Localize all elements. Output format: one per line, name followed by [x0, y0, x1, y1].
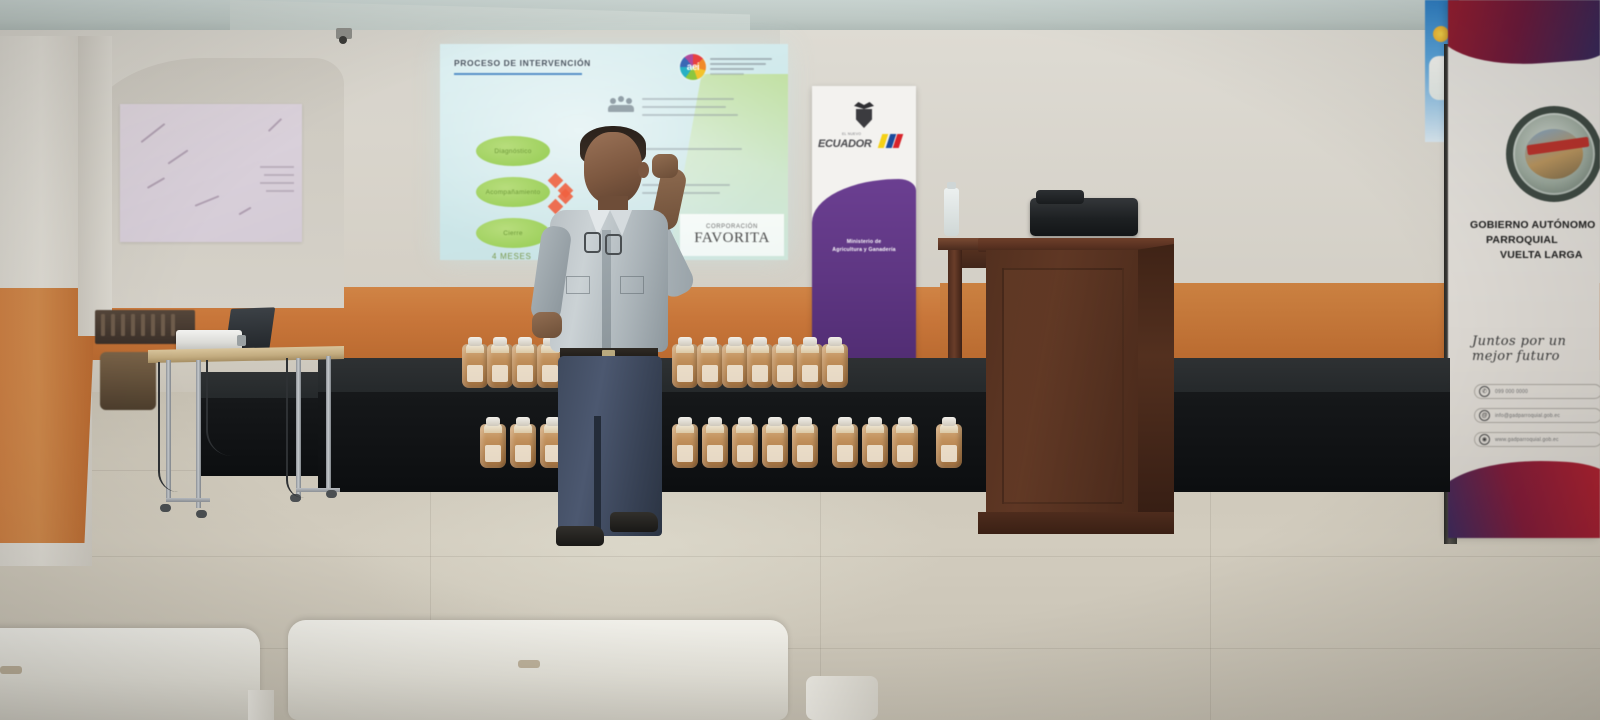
table-caster: [326, 490, 337, 498]
black-bag: [1030, 198, 1138, 236]
ecuador-flag-icon: [878, 134, 913, 148]
security-camera-icon: [336, 28, 352, 39]
projector-table-leg: [326, 356, 331, 490]
conference-room-photo: PROCESO DE INTERVENCIÓN Diagnóstico Acom…: [0, 0, 1600, 720]
ministry-name: Ministerio de Agricultura y Ganadería: [812, 238, 916, 254]
power-cable: [286, 358, 304, 498]
floor-grout-line: [1210, 470, 1211, 720]
chair-leg: [806, 676, 878, 720]
gad-title-line3: VUELTA LARGA: [1470, 248, 1600, 263]
sun-icon: [1433, 26, 1449, 42]
municipal-seal-icon: [1506, 106, 1600, 202]
presenter-shirt-pocket: [620, 276, 644, 294]
table-caster: [196, 510, 207, 518]
gad-contact-phone: ✆ 099 000 0000: [1474, 384, 1600, 399]
banner-wordmark: ECUADOR: [818, 138, 872, 150]
slide-body-line: [642, 106, 726, 108]
plastic-chair[interactable]: [288, 620, 788, 720]
floor-grout-line: [0, 556, 1600, 557]
phone-icon: ✆: [1479, 386, 1490, 397]
ecuador-coat-of-arms-icon: [852, 102, 876, 130]
table-caster: [160, 504, 171, 512]
wooden-table-leg: [948, 250, 962, 372]
banner-top-band: [1448, 0, 1600, 70]
gad-contact-email: @ info@gadparroquial.gob.ec: [1474, 408, 1600, 423]
structural-column-secondary: [78, 36, 112, 336]
presenter-leg-gap: [594, 416, 601, 538]
gad-contact-web-text: www.gadparroquial.gob.ec: [1495, 437, 1559, 443]
podium-front-panel: [1002, 268, 1124, 504]
glasses-icon: [584, 232, 626, 266]
presenter-ear: [638, 162, 649, 178]
chair-leg: [248, 690, 274, 720]
ministry-line1: Ministerio de: [812, 238, 916, 246]
gad-contact-phone-text: 099 000 0000: [1495, 389, 1528, 395]
gad-title-line1: GOBIERNO AUTÓNOMO: [1470, 218, 1600, 233]
ministry-line2: Agricultura y Ganadería: [812, 246, 916, 254]
presenter-hand: [532, 312, 562, 338]
presenter-shoe-left: [556, 526, 604, 546]
ministry-banner: EL NUEVO ECUADOR Ministerio de Agricultu…: [812, 86, 916, 364]
gad-slogan: Juntos por un mejor futuro: [1472, 334, 1600, 364]
banner-bottom-band: [1448, 455, 1600, 538]
wall-whiteboard: [120, 104, 302, 242]
plastic-chair[interactable]: [0, 628, 260, 720]
people-group-icon: [608, 96, 634, 112]
presenter-head: [584, 132, 642, 204]
water-bottle: [944, 188, 959, 236]
slide-body-line: [642, 114, 738, 116]
presenter-shirt-pocket: [566, 276, 590, 294]
projector-table-crossbar: [166, 498, 210, 502]
podium-side-panel: [1138, 244, 1174, 524]
slide-duration-label: 4 MESES: [492, 252, 532, 260]
banner-supertext: EL NUEVO: [842, 132, 861, 136]
power-cable: [158, 362, 178, 492]
presenter-jeans: [558, 356, 662, 536]
gad-banner: GOBIERNO AUTÓNOMO PARROQUIAL VUELTA LARG…: [1448, 0, 1600, 538]
slide-title: PROCESO DE INTERVENCIÓN: [454, 58, 591, 68]
slide-body-line: [642, 98, 734, 100]
gad-title: GOBIERNO AUTÓNOMO PARROQUIAL VUELTA LARG…: [1448, 218, 1600, 264]
gad-contact-web: ◉ www.gadparroquial.gob.ec: [1474, 432, 1600, 447]
gad-contact-email-text: info@gadparroquial.gob.ec: [1495, 413, 1560, 419]
presenter-shoe-right: [610, 512, 658, 532]
aei-logo-subtitle: [710, 58, 780, 78]
video-cable: [206, 360, 232, 456]
slide-title-rule: [454, 73, 582, 75]
projector-table-leg: [196, 360, 201, 508]
presenter: [528, 126, 728, 566]
gad-title-line2: PARROQUIAL: [1470, 233, 1600, 248]
web-icon: ◉: [1479, 434, 1490, 445]
banner-purple-panel: [812, 179, 916, 364]
podium-base: [978, 512, 1174, 534]
aei-logo-icon: [680, 54, 706, 80]
email-icon: @: [1479, 410, 1490, 421]
presenter-fist: [652, 154, 678, 178]
